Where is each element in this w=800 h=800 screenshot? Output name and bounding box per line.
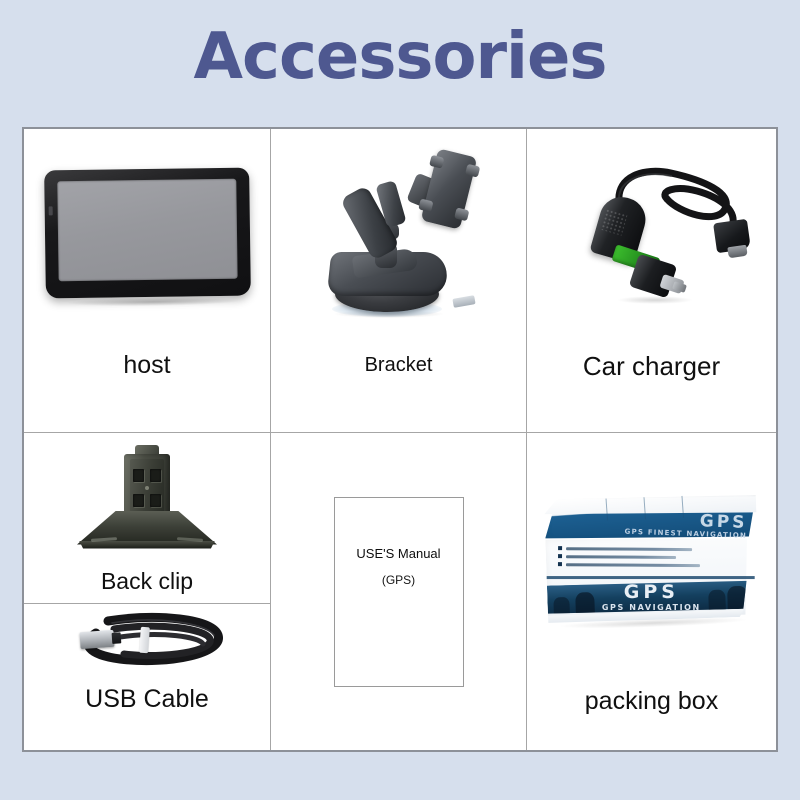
box-brand: GPS <box>547 583 755 602</box>
cell-back-clip[interactable]: Back clip <box>24 433 270 604</box>
bullet-text-line <box>566 555 676 559</box>
bullet-square-icon <box>557 562 561 566</box>
device-shadow <box>67 297 237 307</box>
accessories-page: Accessories host <box>0 0 800 800</box>
back-clip-bracket-icon <box>77 445 217 551</box>
cradle-nub <box>464 163 479 177</box>
usb-cable-illustration <box>24 604 270 685</box>
clip-screw <box>145 486 149 490</box>
car-charger-with-cable-icon <box>547 151 757 316</box>
bracket-cradle-head <box>420 148 477 229</box>
suction-release-tab <box>452 295 475 308</box>
device-screen <box>57 179 237 281</box>
gps-packing-box-icon: GPS GPS FINEST NAVIGATION <box>539 492 763 624</box>
box-feature-bullets <box>557 546 707 571</box>
users-manual-booklet-icon: USE'S Manual (GPS) <box>334 497 464 687</box>
box-bullet <box>558 554 708 559</box>
bullet-square-icon <box>558 554 562 558</box>
suction-cup-mount-icon <box>309 150 489 318</box>
item-label-host: host <box>123 351 170 432</box>
back-clip-illustration <box>24 433 270 568</box>
bullet-text-line <box>566 547 692 551</box>
item-label-bracket: Bracket <box>365 354 433 432</box>
cradle-nub <box>454 207 469 221</box>
cell-packing-box[interactable]: GPS GPS FINEST NAVIGATION <box>527 433 776 750</box>
clip-slot <box>150 494 161 507</box>
cable-tie <box>139 626 150 653</box>
manual-subtitle: (GPS) <box>382 573 415 587</box>
box-bullet <box>558 546 708 551</box>
grid-column-left-bottom: Back clip <box>24 433 271 750</box>
cell-host[interactable]: host <box>24 129 271 433</box>
box-branding: GPS GPS NAVIGATION <box>547 583 755 612</box>
device-side-button <box>48 206 52 215</box>
cell-usb-cable[interactable]: USB Cable <box>24 604 270 750</box>
mini-usb-plug-metal <box>727 244 747 258</box>
usb-type-a-connector <box>79 629 114 648</box>
accessories-grid: host <box>22 127 778 752</box>
bullet-square-icon <box>558 546 562 550</box>
clip-slot <box>150 469 161 482</box>
item-label-packing-box: packing box <box>585 687 718 750</box>
box-bullet <box>557 562 707 567</box>
packing-box-illustration: GPS GPS FINEST NAVIGATION <box>527 433 776 687</box>
cradle-nub <box>418 198 433 212</box>
manual-title: USE'S Manual <box>356 546 440 561</box>
clip-slot <box>133 494 144 507</box>
cradle-nub <box>429 154 444 168</box>
gps-navigator-device-icon <box>44 168 251 299</box>
manual-illustration: USE'S Manual (GPS) <box>271 433 526 750</box>
grid-row-bottom: Back clip <box>24 433 776 750</box>
bullet-text-line <box>565 563 699 567</box>
clip-slot <box>133 469 144 482</box>
host-illustration <box>24 129 270 351</box>
box-divider-strip <box>546 576 754 579</box>
item-label-back-clip: Back clip <box>101 568 193 603</box>
cell-car-charger[interactable]: Car charger <box>527 129 776 433</box>
charger-shadow <box>617 296 693 304</box>
clip-base-lip <box>79 541 215 549</box>
cell-bracket[interactable]: Bracket <box>271 129 527 433</box>
page-title: Accessories <box>0 22 800 92</box>
cell-manual[interactable]: USE'S Manual (GPS) <box>271 433 527 750</box>
grid-row-top: host <box>24 129 776 433</box>
item-label-usb-cable: USB Cable <box>85 685 209 750</box>
car-charger-illustration <box>527 129 776 351</box>
coiled-usb-cable-icon <box>62 609 232 677</box>
item-label-car-charger: Car charger <box>583 351 720 432</box>
bracket-illustration <box>271 129 526 354</box>
